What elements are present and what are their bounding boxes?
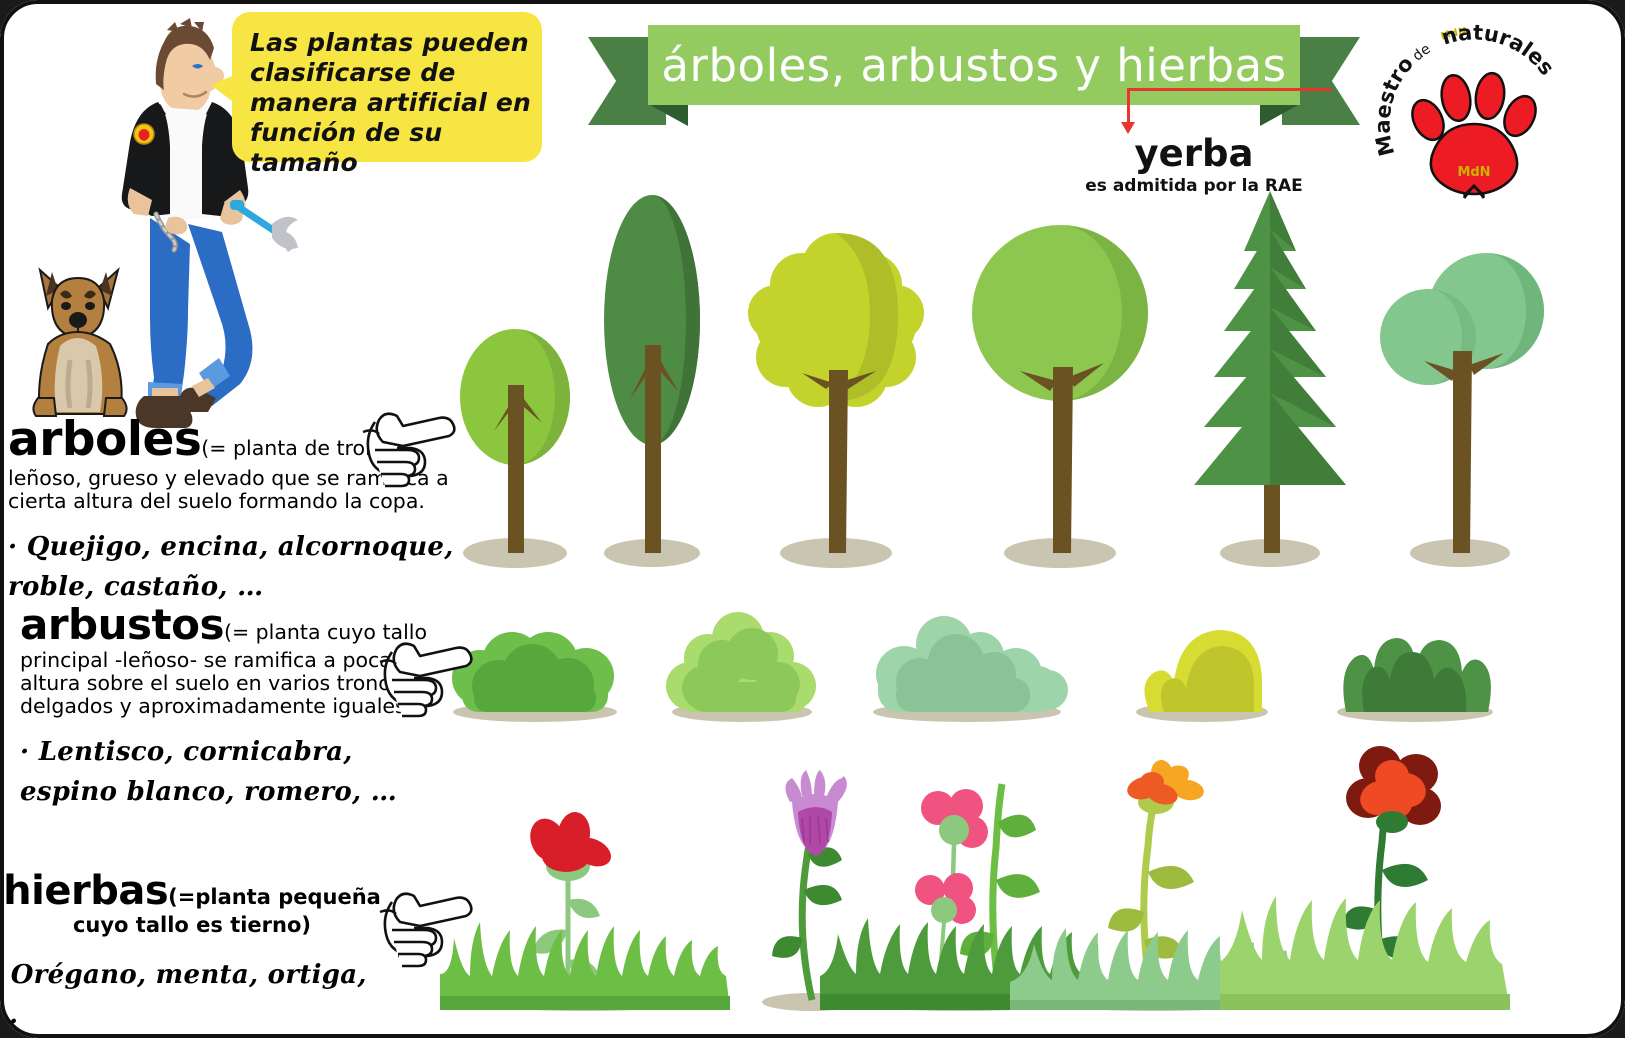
grass-flowers-row: [430, 755, 1580, 1010]
bush-pale-sage: [852, 600, 1082, 720]
annotation-note: es admitida por la RAE: [1080, 176, 1308, 196]
trees-row: [440, 165, 1560, 565]
tree-scalloped-lime: [736, 185, 936, 565]
arboles-examples: · Quejigo, encina, alcornoque, roble, ca…: [8, 527, 478, 607]
infographic-page: Las plantas pueden clasificarse de maner…: [0, 0, 1625, 1038]
hierbas-term-and-definition: hierbas(=planta pequeña cuyo tallo es ti…: [0, 868, 392, 937]
svg-text:Maestro: Maestro: [1370, 52, 1418, 159]
hierbas-term: hierbas: [3, 868, 168, 914]
grass-with-red-flower: [440, 760, 730, 1010]
bush-light-lime: [652, 600, 832, 720]
yerba-annotation: yerba es admitida por la RAE: [1080, 88, 1380, 193]
speech-bubble: Las plantas pueden clasificarse de maner…: [232, 12, 542, 162]
bush-olive-yellow: [1112, 600, 1292, 720]
arbustos-term: arbustos: [20, 600, 224, 649]
logo-text-maestro: Maestro: [1370, 52, 1418, 159]
bush-dark-green: [1320, 600, 1510, 720]
section-hierbas: hierbas(=planta pequeña cuyo tallo es ti…: [0, 868, 392, 1035]
site-logo[interactable]: MdN MdN Maestro de naturales: [1386, 28, 1562, 213]
bushes-row: [420, 595, 1540, 720]
logo-text-de: de: [1410, 41, 1434, 64]
logo-inner-text: MdN: [1457, 165, 1490, 180]
hierbas-examples: · Orégano, menta, ortiga, …: [0, 955, 392, 1035]
svg-text:de: de: [1410, 41, 1434, 64]
pointing-hand-icon: [345, 392, 457, 490]
pointing-hand-icon: [362, 622, 474, 720]
speech-bubble-text: Las plantas pueden clasificarse de maner…: [250, 28, 532, 178]
tree-round-green: [960, 185, 1160, 565]
pointing-hand-icon: [362, 872, 474, 970]
annotation-arrow-horizontal: [1127, 88, 1332, 91]
tree-double-lobe-sage: [1370, 185, 1550, 565]
annotation-word: yerba: [1084, 134, 1304, 173]
annotation-arrow-vertical: [1127, 88, 1130, 126]
arboles-term: arboles: [8, 412, 201, 467]
annotation-arrow-head-icon: [1121, 122, 1135, 134]
arbustos-examples: · Lentisco, cornicabra, espino blanco, r…: [20, 732, 450, 812]
grass-with-darkred-flower: [1220, 750, 1510, 1010]
tree-conifer-pine: [1180, 185, 1360, 565]
tree-tall-poplar-dark-green: [592, 185, 712, 565]
